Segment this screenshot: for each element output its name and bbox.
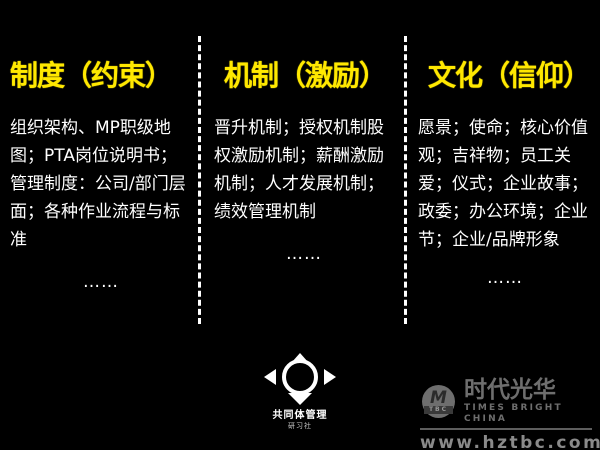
column-institution: 制度（约束） 组织架构、MP职级地图；PTA岗位说明书；管理制度：公司/部门层面… [0, 0, 200, 350]
column-ellipsis-mechanism: …… [212, 244, 396, 264]
watermark-brand-en: TIMES BRIGHT CHINA [464, 403, 592, 425]
column-body-institution: 组织架构、MP职级地图；PTA岗位说明书；管理制度：公司/部门层面；各种作业流程… [10, 114, 192, 254]
watermark-brand-cn: 时代光华 [464, 378, 592, 403]
badge-tbc-label: TBC [424, 406, 453, 414]
triangle-up-icon [292, 353, 308, 362]
column-ellipsis-institution: …… [10, 272, 192, 292]
column-divider-left [198, 36, 201, 324]
watermark-divider [420, 428, 592, 430]
center-logo-name: 共同体管理 [248, 410, 352, 422]
center-logo: 共同体管理 研习社 [248, 353, 352, 431]
column-title-culture: 文化（信仰） [428, 62, 594, 90]
compass-diamond-icon [264, 353, 336, 409]
circle-ring-shape [282, 359, 318, 395]
column-mechanism: 机制（激励） 晋升机制；授权机制股权激励机制；薪酬激励机制；人才发展机制；绩效管… [200, 0, 404, 350]
column-title-mechanism: 机制（激励） [224, 62, 396, 90]
triangle-right-icon [324, 369, 336, 385]
watermark-url: www.hztbc.com [420, 433, 592, 450]
watermark-brand-row: M TBC 时代光华 TIMES BRIGHT CHINA [420, 378, 592, 425]
column-body-culture: 愿景；使命；核心价值观；吉祥物；员工关爱；仪式；企业故事；政委；办公环境；企业节… [418, 114, 594, 254]
badge-swoosh-glyph: M [427, 391, 450, 405]
tbc-badge-icon: M TBC [420, 385, 458, 418]
column-culture: 文化（信仰） 愿景；使命；核心价值观；吉祥物；员工关爱；仪式；企业故事；政委；办… [404, 0, 600, 350]
three-column-layout: 制度（约束） 组织架构、MP职级地图；PTA岗位说明书；管理制度：公司/部门层面… [0, 0, 600, 350]
slide-canvas: 制度（约束） 组织架构、MP职级地图；PTA岗位说明书；管理制度：公司/部门层面… [0, 0, 600, 450]
column-ellipsis-culture: …… [416, 268, 594, 288]
watermark: M TBC 时代光华 TIMES BRIGHT CHINA www.hztbc.… [420, 378, 592, 450]
triangle-down-icon [288, 393, 312, 405]
center-logo-subname: 研习社 [248, 422, 352, 431]
column-body-mechanism: 晋升机制；授权机制股权激励机制；薪酬激励机制；人才发展机制；绩效管理机制 [214, 114, 396, 226]
triangle-left-icon [264, 369, 276, 385]
watermark-names: 时代光华 TIMES BRIGHT CHINA [464, 378, 592, 425]
column-divider-right [404, 36, 407, 324]
column-title-institution: 制度（约束） [10, 62, 192, 90]
